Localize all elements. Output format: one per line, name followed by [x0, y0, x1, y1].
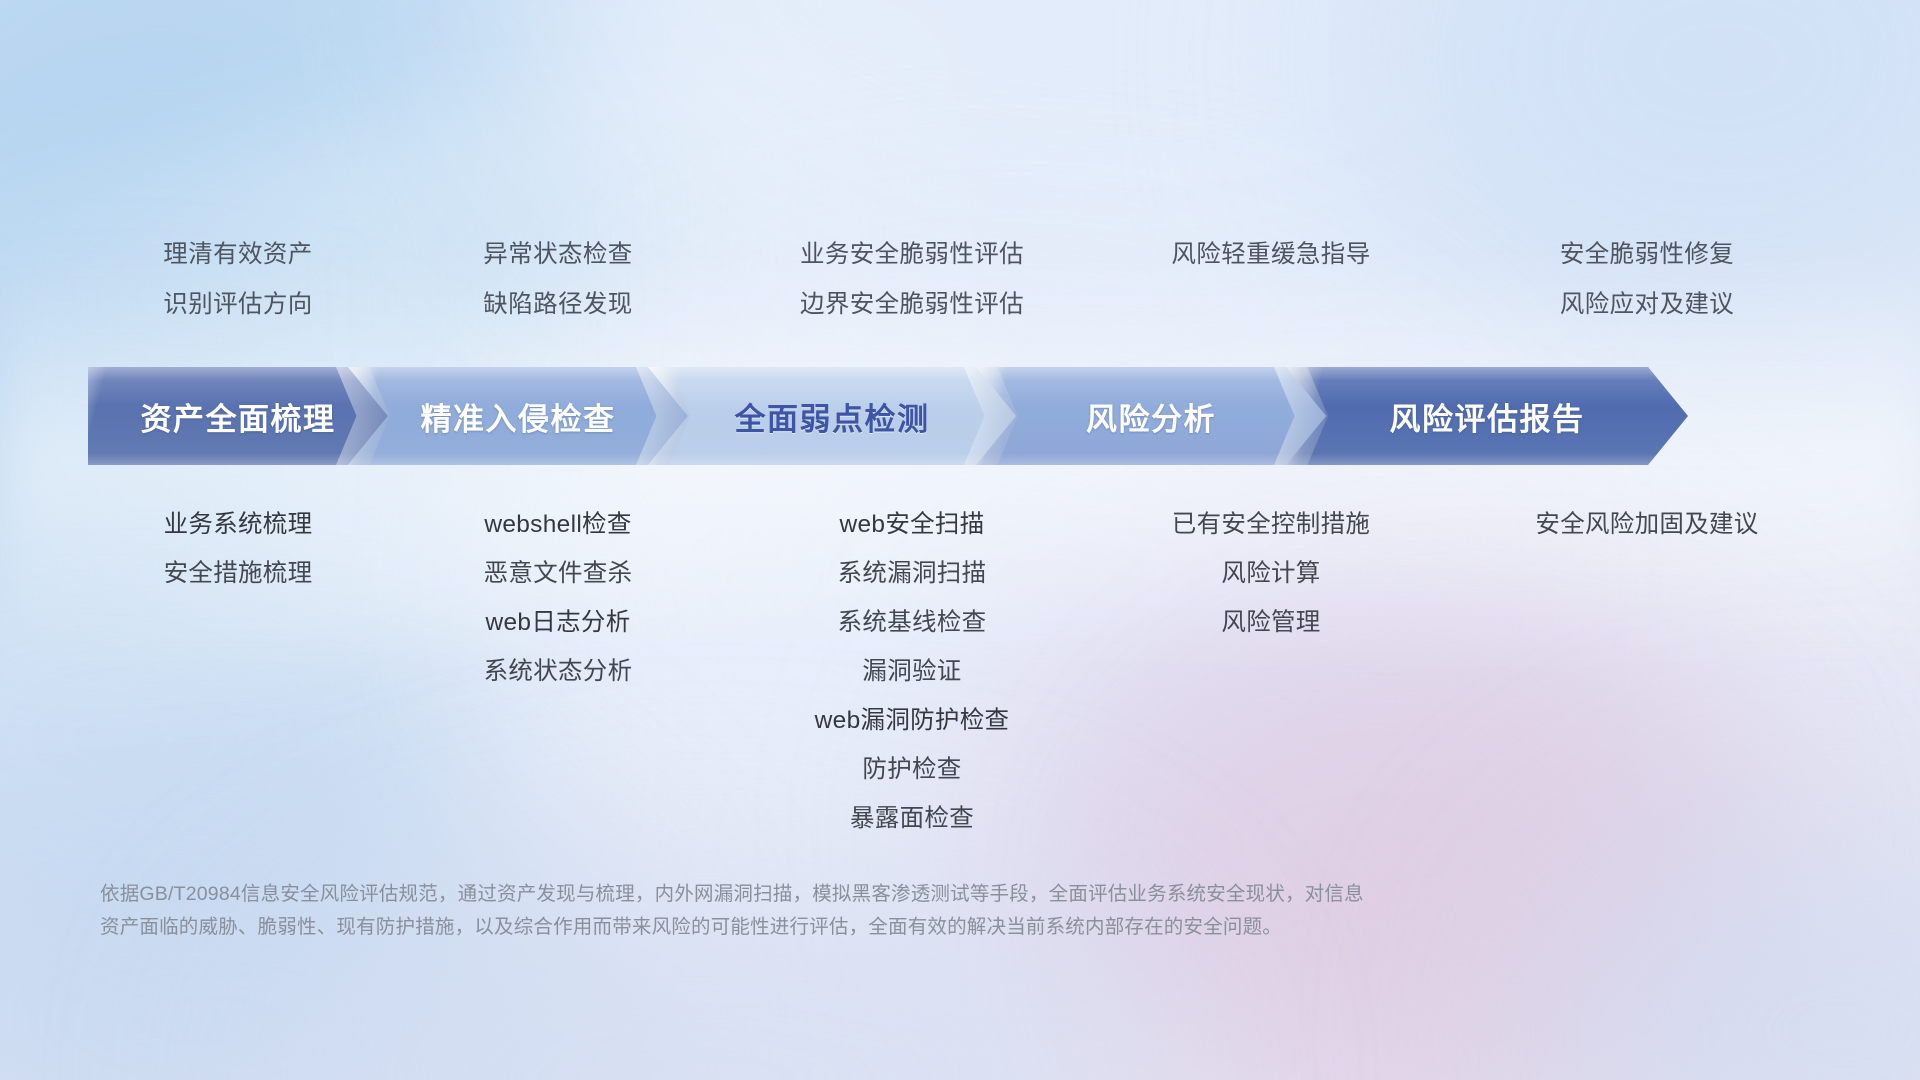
detail-list-stage-5: 安全风险加固及建议 [1446, 500, 1848, 549]
top-label: 业务安全脆弱性评估 [728, 230, 1096, 280]
detail-list-stage-4: 已有安全控制措施 风险计算 风险管理 [1096, 500, 1446, 647]
top-label-row: 理清有效资产 识别评估方向 异常状态检查 缺陷路径发现 业务安全脆弱性评估 边界… [88, 230, 1848, 340]
detail-item: webshell检查 [388, 500, 728, 549]
detail-list-stage-1: 业务系统梳理 安全措施梳理 [88, 500, 388, 598]
stage-title: 风险评估报告 [1390, 394, 1585, 439]
detail-item: 防护检查 [728, 745, 1096, 794]
detail-item: 已有安全控制措施 [1096, 500, 1446, 549]
top-label: 安全脆弱性修复 [1446, 230, 1848, 280]
process-arrow-band: 资产全面梳理 精准入侵检查 全面弱点检测 风险分析 [88, 367, 1848, 465]
stage-title: 风险分析 [1086, 394, 1216, 439]
footer-line: 依据GB/T20984信息安全风险评估规范，通过资产发现与梳理，内外网漏洞扫描，… [100, 878, 1610, 911]
stage-title: 精准入侵检查 [421, 394, 616, 439]
detail-item: 安全风险加固及建议 [1446, 500, 1848, 549]
bottom-detail-row: 业务系统梳理 安全措施梳理 webshell检查 恶意文件查杀 web日志分析 … [88, 500, 1848, 843]
stage-arrow-4[interactable]: 风险分析 [976, 367, 1326, 465]
top-labels-stage-4: 风险轻重缓急指导 [1096, 230, 1446, 340]
detail-list-stage-2: webshell检查 恶意文件查杀 web日志分析 系统状态分析 [388, 500, 728, 696]
top-label: 风险应对及建议 [1446, 280, 1848, 330]
detail-item: web日志分析 [388, 598, 728, 647]
footer-line: 资产面临的威胁、脆弱性、现有防护措施，以及综合作用而带来风险的可能性进行评估，全… [100, 911, 1610, 944]
detail-item: 漏洞验证 [728, 647, 1096, 696]
detail-item: 恶意文件查杀 [388, 549, 728, 598]
detail-item: 系统漏洞扫描 [728, 549, 1096, 598]
top-label: 理清有效资产 [88, 230, 388, 280]
stage-arrow-2[interactable]: 精准入侵检查 [348, 367, 688, 465]
top-labels-stage-1: 理清有效资产 识别评估方向 [88, 230, 388, 340]
detail-item: 风险管理 [1096, 598, 1446, 647]
detail-item: web漏洞防护检查 [728, 696, 1096, 745]
top-label: 识别评估方向 [88, 280, 388, 330]
detail-item: 业务系统梳理 [88, 500, 388, 549]
detail-item: 安全措施梳理 [88, 549, 388, 598]
stage-arrow-1[interactable]: 资产全面梳理 [88, 367, 388, 465]
top-label: 风险轻重缓急指导 [1096, 230, 1446, 280]
slide-canvas: 理清有效资产 识别评估方向 异常状态检查 缺陷路径发现 业务安全脆弱性评估 边界… [0, 0, 1920, 1080]
footer-description: 依据GB/T20984信息安全风险评估规范，通过资产发现与梳理，内外网漏洞扫描，… [100, 878, 1610, 944]
top-label: 缺陷路径发现 [388, 280, 728, 330]
stage-title: 资产全面梳理 [141, 394, 336, 439]
stage-arrow-3[interactable]: 全面弱点检测 [648, 367, 1016, 465]
top-label: 异常状态检查 [388, 230, 728, 280]
top-labels-stage-5: 安全脆弱性修复 风险应对及建议 [1446, 230, 1848, 340]
diagram-content: 理清有效资产 识别评估方向 异常状态检查 缺陷路径发现 业务安全脆弱性评估 边界… [0, 0, 1920, 1080]
detail-item: 系统基线检查 [728, 598, 1096, 647]
top-label: 边界安全脆弱性评估 [728, 280, 1096, 330]
top-labels-stage-2: 异常状态检查 缺陷路径发现 [388, 230, 728, 340]
top-labels-stage-3: 业务安全脆弱性评估 边界安全脆弱性评估 [728, 230, 1096, 340]
detail-item: 暴露面检查 [728, 794, 1096, 843]
stage-title: 全面弱点检测 [735, 394, 930, 439]
detail-list-stage-3: web安全扫描 系统漏洞扫描 系统基线检查 漏洞验证 web漏洞防护检查 防护检… [728, 500, 1096, 843]
detail-item: web安全扫描 [728, 500, 1096, 549]
detail-item: 系统状态分析 [388, 647, 728, 696]
stage-arrow-5[interactable]: 风险评估报告 [1286, 367, 1688, 465]
detail-item: 风险计算 [1096, 549, 1446, 598]
